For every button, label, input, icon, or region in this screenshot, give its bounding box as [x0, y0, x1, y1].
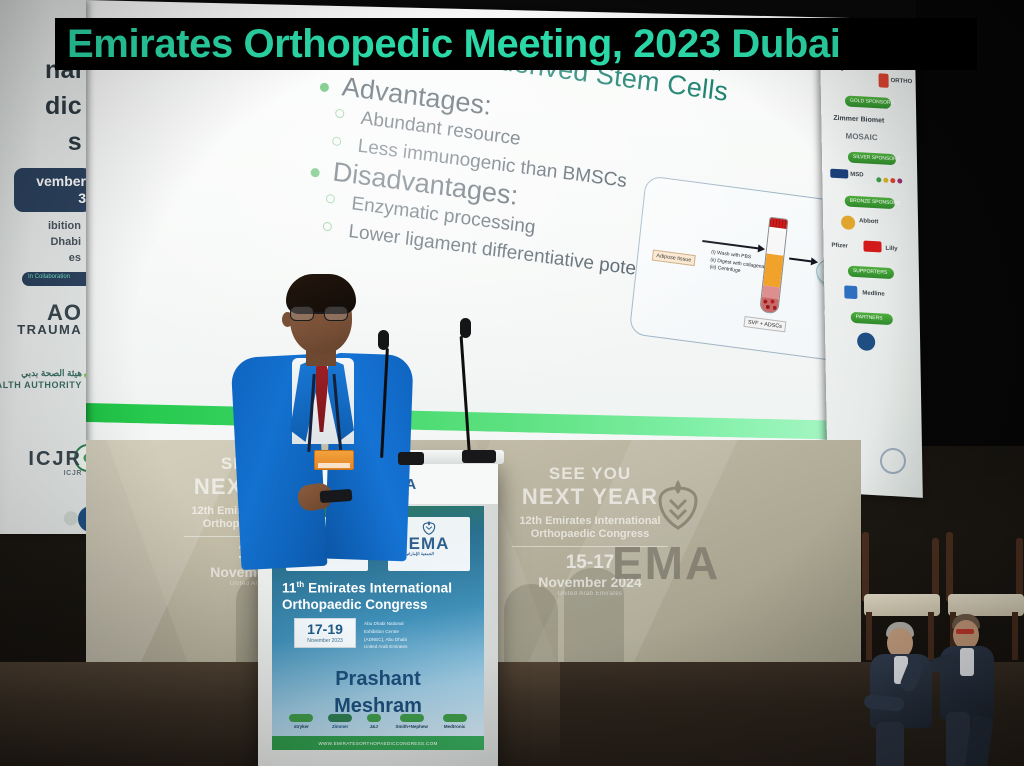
glasses-lens-right — [324, 306, 348, 321]
diagram-arrow-icon-2 — [789, 258, 813, 264]
chair-back-post-2 — [1016, 538, 1023, 598]
poster-venue-1: ibition — [48, 220, 81, 232]
backdrop-ema-logo-text: EMA — [612, 536, 720, 590]
diagram-steps-text: (i) Wash with PBS (ii) Digest with colla… — [709, 249, 771, 279]
diagram-label-adipose: Adipose tissue — [652, 250, 696, 267]
panelist-glasses-icon — [956, 629, 974, 634]
bullet-ring-icon — [325, 194, 335, 204]
sign-website-strip: WWW.EMIRATESORTHOPAEDICCONGRESS.COM — [272, 736, 484, 750]
sponsor-mark-blue-icon — [830, 169, 848, 179]
sign-website-url: WWW.EMIRATESORTHOPAEDICCONGRESS.COM — [318, 741, 437, 746]
logo-icjr-sub: ICJR — [64, 470, 82, 477]
sign-edition-number: 11 — [282, 581, 296, 596]
tube-layer-pellet — [760, 297, 778, 313]
sponsor-mark-icon — [844, 285, 857, 299]
glasses-lens-left — [290, 306, 314, 321]
tube-layer-clear — [767, 230, 786, 256]
sponsor-logo-msd: MSD — [850, 172, 863, 179]
sponsor-tier-pill-supporters: SUPPORTERS — [848, 266, 894, 280]
chair-leg — [866, 612, 872, 660]
chair-back-post-2 — [932, 538, 939, 598]
sponsor-tier-pill-partners: PARTNERS — [851, 312, 893, 325]
sign-venue-line-2: Exhibition Centre — [364, 628, 407, 636]
sponsor-logo-pfizer: Pfizer — [831, 243, 847, 250]
poster-date-line-2: 3 — [78, 190, 86, 206]
presenter-glasses-icon — [288, 306, 354, 321]
microphone-left — [360, 330, 420, 460]
sign-sponsor-strip: stryker Zimmer J&J Smith+Nephew Medtroni… — [272, 708, 484, 734]
speaker-first-name: Prashant — [272, 666, 484, 693]
sign-title-line-2: Orthopaedic Congress — [282, 597, 428, 612]
sign-sponsor-label: Smith+Nephew — [396, 724, 428, 729]
sign-sponsor-item: J&J — [367, 714, 381, 729]
sign-sponsor-label: stryker — [294, 724, 309, 729]
sign-sponsor-item: Zimmer — [328, 714, 352, 729]
mic-capsule — [460, 318, 471, 338]
laptop-unit — [462, 450, 496, 463]
ema-emblem-icon — [652, 478, 704, 534]
partner-logo-faint-icon — [54, 508, 86, 534]
adipose-tissue-icon — [661, 215, 704, 252]
logo-ao-trauma-sub: TRAUMA — [17, 322, 82, 337]
poster-collaboration-pill: In Collaboration — [22, 272, 86, 286]
centrifuge-tube-icon — [759, 217, 788, 315]
bullet-dot-icon — [310, 168, 320, 178]
sponsor-logo-zimmer: Zimmer Biomet — [833, 115, 884, 125]
seated-panelists-group — [862, 430, 1024, 660]
sponsor-logo-medline: Medline — [862, 290, 884, 297]
sponsor-logo-abbott: Abbott — [859, 218, 878, 225]
sponsor-tier-label: SILVER SPONSORS — [853, 154, 900, 163]
sign-sponsor-item: Smith+Nephew — [396, 714, 428, 729]
sponsor-tier-pill-bronze: BRONZE SPONSORS — [845, 195, 895, 209]
sponsor-tier-label: PARTNERS — [856, 314, 883, 322]
sponsor-mark-yellow-icon — [841, 215, 855, 230]
sign-title-line-1: 11th Emirates International — [282, 580, 452, 596]
sign-date-box: 17-19 November 2023 — [294, 618, 356, 648]
sponsor-tier-pill-gold: GOLD SPONSORS — [845, 95, 891, 109]
sign-venue-line-4: United Arab Emirates — [364, 643, 407, 651]
panelist-leg — [876, 722, 904, 766]
mic-capsule — [378, 330, 389, 350]
title-overlay-text: Emirates Orthopedic Meeting, 2023 Dubai — [67, 22, 841, 67]
sign-sponsor-item: Medtronic — [443, 714, 467, 729]
logo-icjr: ICJR — [28, 448, 82, 471]
mic-gooseneck — [380, 348, 389, 458]
sponsor-mark-label: ORTHO — [891, 78, 913, 85]
sponsor-tier-pill-silver: SILVER SPONSORS — [848, 152, 896, 166]
sign-title-rest: Emirates International — [304, 581, 452, 596]
panelist-shirt — [960, 648, 974, 676]
mic-gooseneck — [460, 336, 472, 462]
chair-leg — [928, 612, 934, 660]
sign-sponsor-pill — [443, 714, 467, 722]
poster-venue-3: es — [69, 252, 81, 264]
poster-pill-label: In Collaboration — [28, 274, 70, 280]
tube-cap — [767, 217, 788, 230]
sign-venue-line-3: (ADNEC), Abu Dhabi — [364, 636, 407, 644]
poster-line-4: s — [68, 130, 82, 155]
sponsor-logo-globus-icon — [857, 332, 875, 351]
left-event-poster: s nal dic s vember 3 ibition Dhabi es In… — [0, 0, 86, 534]
presentation-clicker — [320, 489, 353, 503]
sponsor-logo-jnj-icon — [863, 240, 881, 252]
logo-dha-english: DUBAI HEALTH AUTHORITY — [0, 380, 82, 390]
chair-back-post — [946, 532, 953, 598]
chair-leg — [1012, 612, 1018, 660]
sign-venue-block: Abu Dhabi National Exhibition Centre (AD… — [364, 620, 407, 651]
sponsor-tier-label: BRONZE SPONSORS — [850, 198, 901, 207]
sign-venue-line-1: Abu Dhabi National — [364, 620, 407, 628]
poster-venue-2: Dhabi — [50, 236, 81, 248]
sponsor-tier-label: GOLD SPONSORS — [850, 98, 894, 106]
diagram-label-svf: SVF + ADSCs — [743, 316, 786, 332]
sign-month: November 2023 — [307, 638, 343, 644]
sign-sponsor-item: stryker — [289, 714, 313, 729]
sponsor-logo-mosaic: MOSAIC — [846, 131, 878, 142]
sign-sponsor-pill — [367, 714, 381, 722]
sponsor-dots-icon — [876, 177, 902, 183]
sign-sponsor-label: Zimmer — [332, 724, 348, 729]
conference-photo-scene: derived Stem Cells tear? Advantages: Abu… — [0, 0, 1024, 766]
mic-base-unit — [398, 452, 424, 465]
microphone-right — [430, 318, 500, 463]
sign-sponsor-pill — [289, 714, 313, 722]
sign-sponsor-label: J&J — [370, 724, 378, 729]
bullet-ring-icon — [332, 136, 342, 146]
bullet-ring-icon — [335, 109, 345, 119]
presenter-name-badge — [314, 450, 354, 470]
backdrop-venue-2: United Arab Emirates — [490, 591, 690, 598]
title-overlay-banner: Emirates Orthopedic Meeting, 2023 Dubai — [55, 18, 977, 70]
bullet-ring-icon — [322, 221, 332, 231]
poster-date-line-1: vember — [36, 173, 86, 189]
sponsor-logo-lilly: Lilly — [885, 246, 897, 253]
poster-line-3: dic — [45, 94, 82, 119]
sign-sponsor-pill — [328, 714, 352, 722]
logo-dha-arabic: هيئة الصحة بدبي — [21, 368, 82, 379]
sponsor-tier-label: SUPPORTERS — [853, 268, 887, 276]
bullet-dot-icon — [319, 82, 329, 92]
sign-sponsor-pill — [400, 714, 424, 722]
chair-back-post — [862, 532, 869, 598]
sponsor-mark-red-icon — [878, 73, 888, 88]
sign-dates: 17-19 — [307, 622, 343, 636]
poster-date-badge: vember 3 — [14, 168, 86, 212]
tube-layer-lipid — [763, 253, 783, 287]
sign-sponsor-label: Medtronic — [444, 724, 466, 729]
